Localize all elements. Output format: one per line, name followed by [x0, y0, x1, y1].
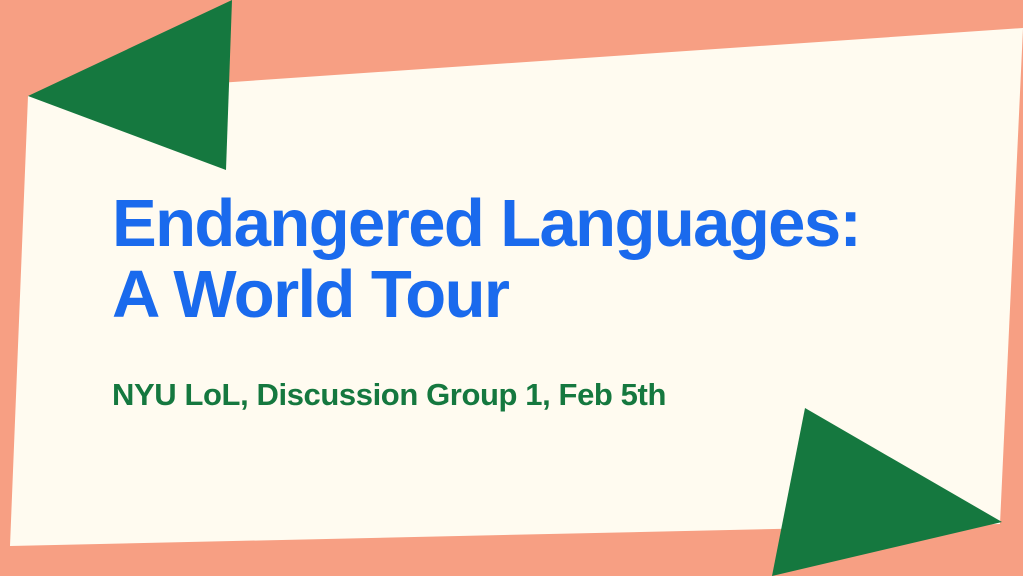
- page-title: Endangered Languages: A World Tour: [112, 188, 932, 330]
- slide-content: Endangered Languages: A World Tour NYU L…: [0, 0, 1023, 576]
- slide-canvas: Endangered Languages: A World Tour NYU L…: [0, 0, 1023, 576]
- title-text-block: Endangered Languages: A World Tour NYU L…: [112, 188, 932, 413]
- slide-subtitle: NYU LoL, Discussion Group 1, Feb 5th: [112, 330, 932, 413]
